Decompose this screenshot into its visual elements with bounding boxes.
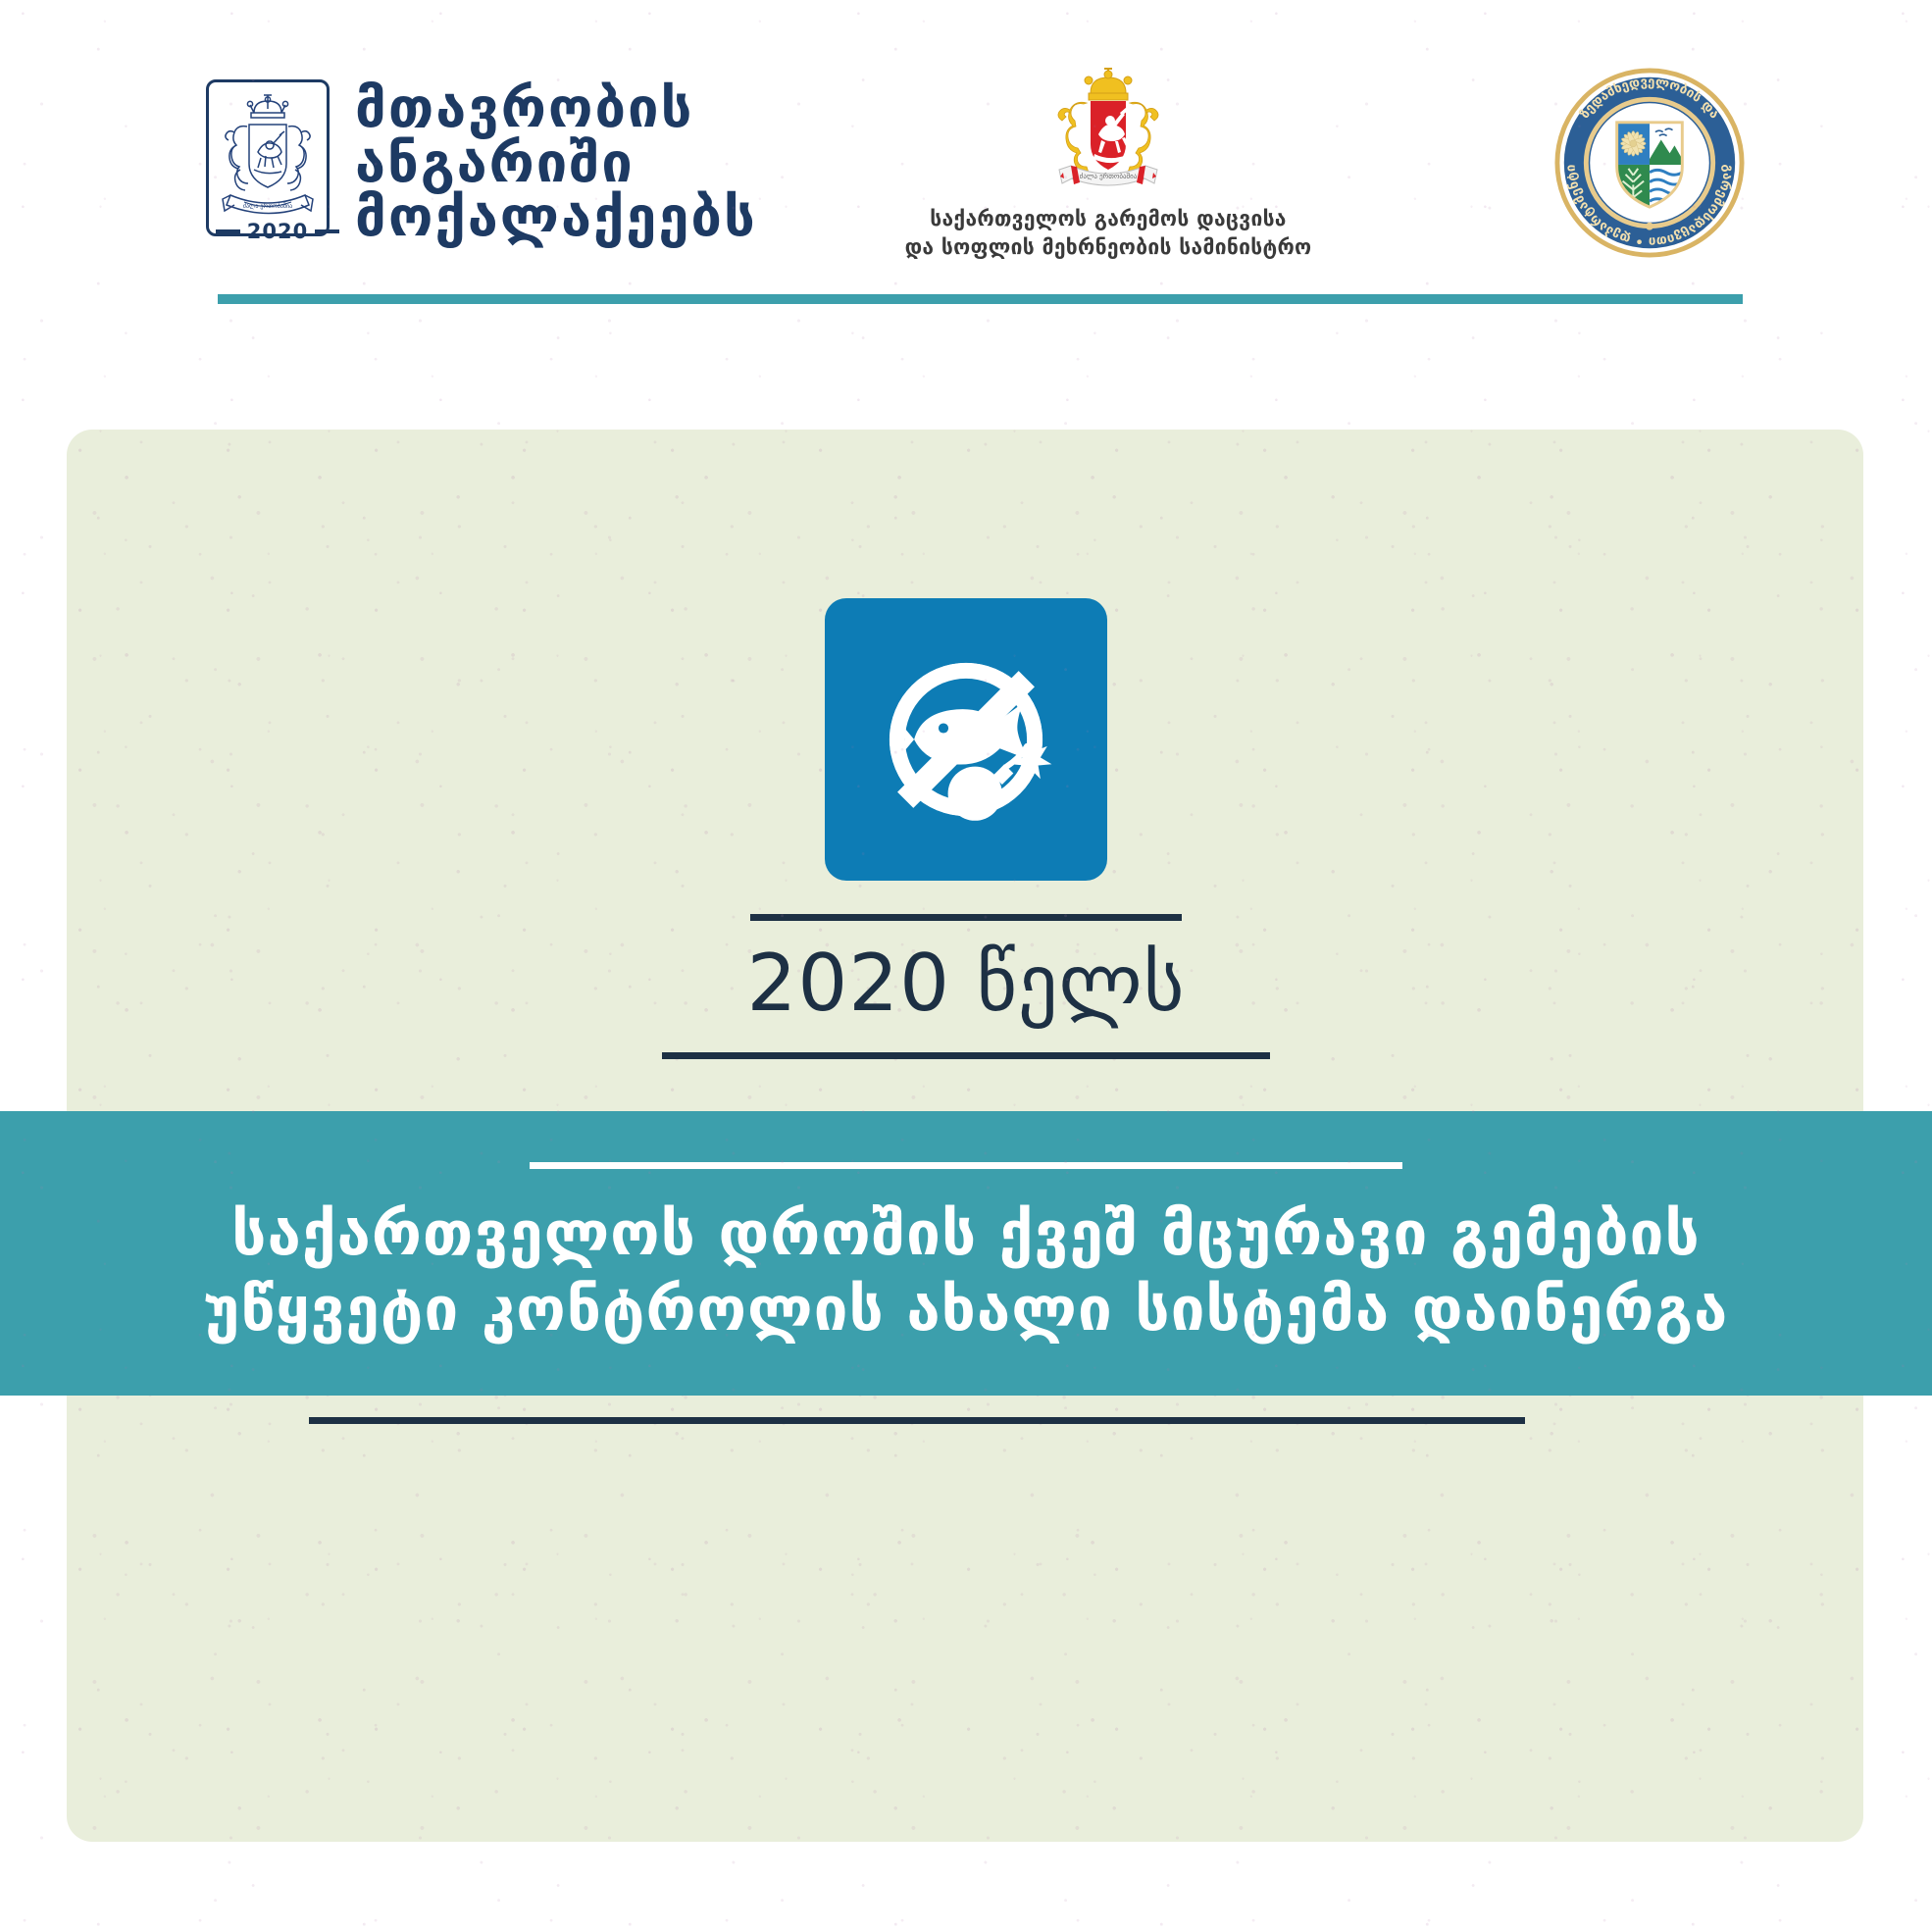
environmental-supervision-seal-icon: ზედამხედველობის და გარემოსდაცვითი • დეპა…	[1553, 67, 1746, 259]
ministry-caption-line-1: საქართველოს გარემოს დაცვისა	[905, 205, 1312, 232]
year-block: 2020 წელს	[0, 914, 1932, 1059]
no-dynamite-fishing-icon	[825, 598, 1107, 881]
year-rule-bottom	[662, 1052, 1270, 1059]
page-header: ძალა ერთობაშია 2020 მთავრობის ანგარიში მ…	[0, 0, 1932, 324]
headline-line-2: უწყვეტი კონტროლის ახალი სისტემა დაინერგა	[204, 1272, 1729, 1347]
lockup-year-label: 2020	[247, 220, 308, 243]
svg-text:ძალა ერთობაშია: ძალა ერთობაშია	[243, 203, 292, 210]
year-rule-left	[216, 229, 240, 233]
header-logos-row: ძალა ერთობაშია 2020 მთავრობის ანგარიში მ…	[216, 57, 1746, 268]
ministry-caption-line-2: და სოფლის მეხრნეობის სამინისტრო	[905, 233, 1312, 261]
year-rule-top	[750, 914, 1182, 921]
headline-line-1: საქართველოს დროშის ქვეშ მცურავი გემების	[204, 1196, 1729, 1272]
headline-banner: საქართველოს დროშის ქვეშ მცურავი გემების …	[0, 1111, 1932, 1396]
ministry-block: ძალა ერთობაშია საქართველოს გარემოს დაცვი…	[853, 64, 1363, 261]
lockup-line-3: მოქალაქეებს	[355, 190, 757, 244]
lockup-line-1: მთავრობის	[355, 81, 757, 135]
header-divider	[218, 294, 1743, 304]
ministry-caption: საქართველოს გარემოს დაცვისა და სოფლის მე…	[905, 205, 1312, 261]
lockup-line-2: ანგარიში	[355, 136, 757, 190]
lockup-year: 2020	[216, 220, 339, 243]
georgia-state-emblem-icon: ძალა ერთობაშია	[1022, 64, 1195, 197]
svg-text:ძალა ერთობაშია: ძალა ერთობაშია	[1080, 172, 1138, 180]
lockup-wordmark: მთავრობის ანგარიში მოქალაქეებს	[355, 79, 757, 244]
year-label: 2020 წელს	[746, 944, 1185, 1023]
headline-text: საქართველოს დროშის ქვეშ მცურავი გემების …	[204, 1196, 1729, 1347]
banner-rule-bottom	[309, 1417, 1525, 1424]
year-rule-right	[315, 229, 339, 233]
banner-rule-top	[530, 1162, 1402, 1169]
government-accountability-lockup: ძალა ერთობაშია 2020 მთავრობის ანგარიში მ…	[206, 79, 757, 244]
georgia-coat-of-arms-icon: ძალა ერთობაშია	[206, 79, 330, 236]
